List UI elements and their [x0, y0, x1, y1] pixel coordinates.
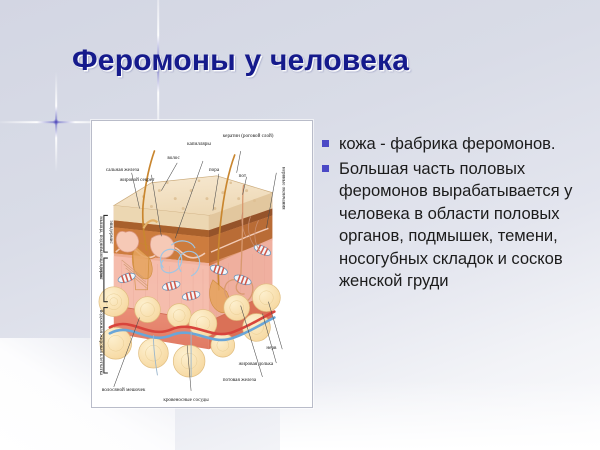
skin-diagram-canvas: сальная железа жировой секрет волос капи…: [92, 121, 312, 407]
bullet-square-icon: [322, 140, 329, 147]
list-item: кожа - фабрика феромонов.: [322, 133, 590, 156]
label-blood-vessels: кровеносные сосуды: [163, 397, 209, 403]
skin-diagram-image: сальная железа жировой секрет волос капи…: [91, 120, 313, 408]
label-epidermis: эпидермис: [108, 220, 114, 244]
sparkle-vertical-beam: [55, 72, 57, 172]
label-subcutaneous-fat: подкожная жировая клетчатка: [98, 310, 104, 376]
bullet-list: кожа - фабрика феромонов. Большая часть …: [322, 133, 590, 295]
label-keratin: кератин (роговой слой): [223, 132, 274, 139]
label-sebaceous-gland: сальная железа: [106, 167, 140, 173]
bullet-text: кожа - фабрика феромонов.: [339, 133, 555, 156]
label-dermis: дерма: [98, 266, 104, 280]
list-item: Большая часть половых феромонов вырабаты…: [322, 158, 590, 293]
label-hair: волос: [167, 155, 180, 161]
label-pore: пора: [209, 167, 220, 173]
label-fatty-secretion: жировой секрет: [119, 176, 155, 183]
sparkle-core: [53, 119, 59, 125]
label-sweat-gland: потовая железа: [223, 377, 257, 383]
background-wash-bottom-right: [280, 380, 600, 450]
label-capillaries: капилляры: [187, 141, 211, 147]
bullet-square-icon: [322, 165, 329, 172]
label-sweat: пот: [239, 173, 247, 179]
slide-canvas: Феромоны у человека: [0, 0, 600, 450]
label-hair-follicle: волосяной мешочек: [102, 386, 146, 393]
label-nerve: нерв: [266, 345, 277, 351]
label-nerve-endings: нервные окончания: [280, 167, 286, 210]
page-title: Феромоны у человека: [72, 44, 572, 78]
label-fat-lobule: жировая долька: [238, 361, 274, 367]
bullet-text: Большая часть половых феромонов вырабаты…: [339, 158, 590, 293]
